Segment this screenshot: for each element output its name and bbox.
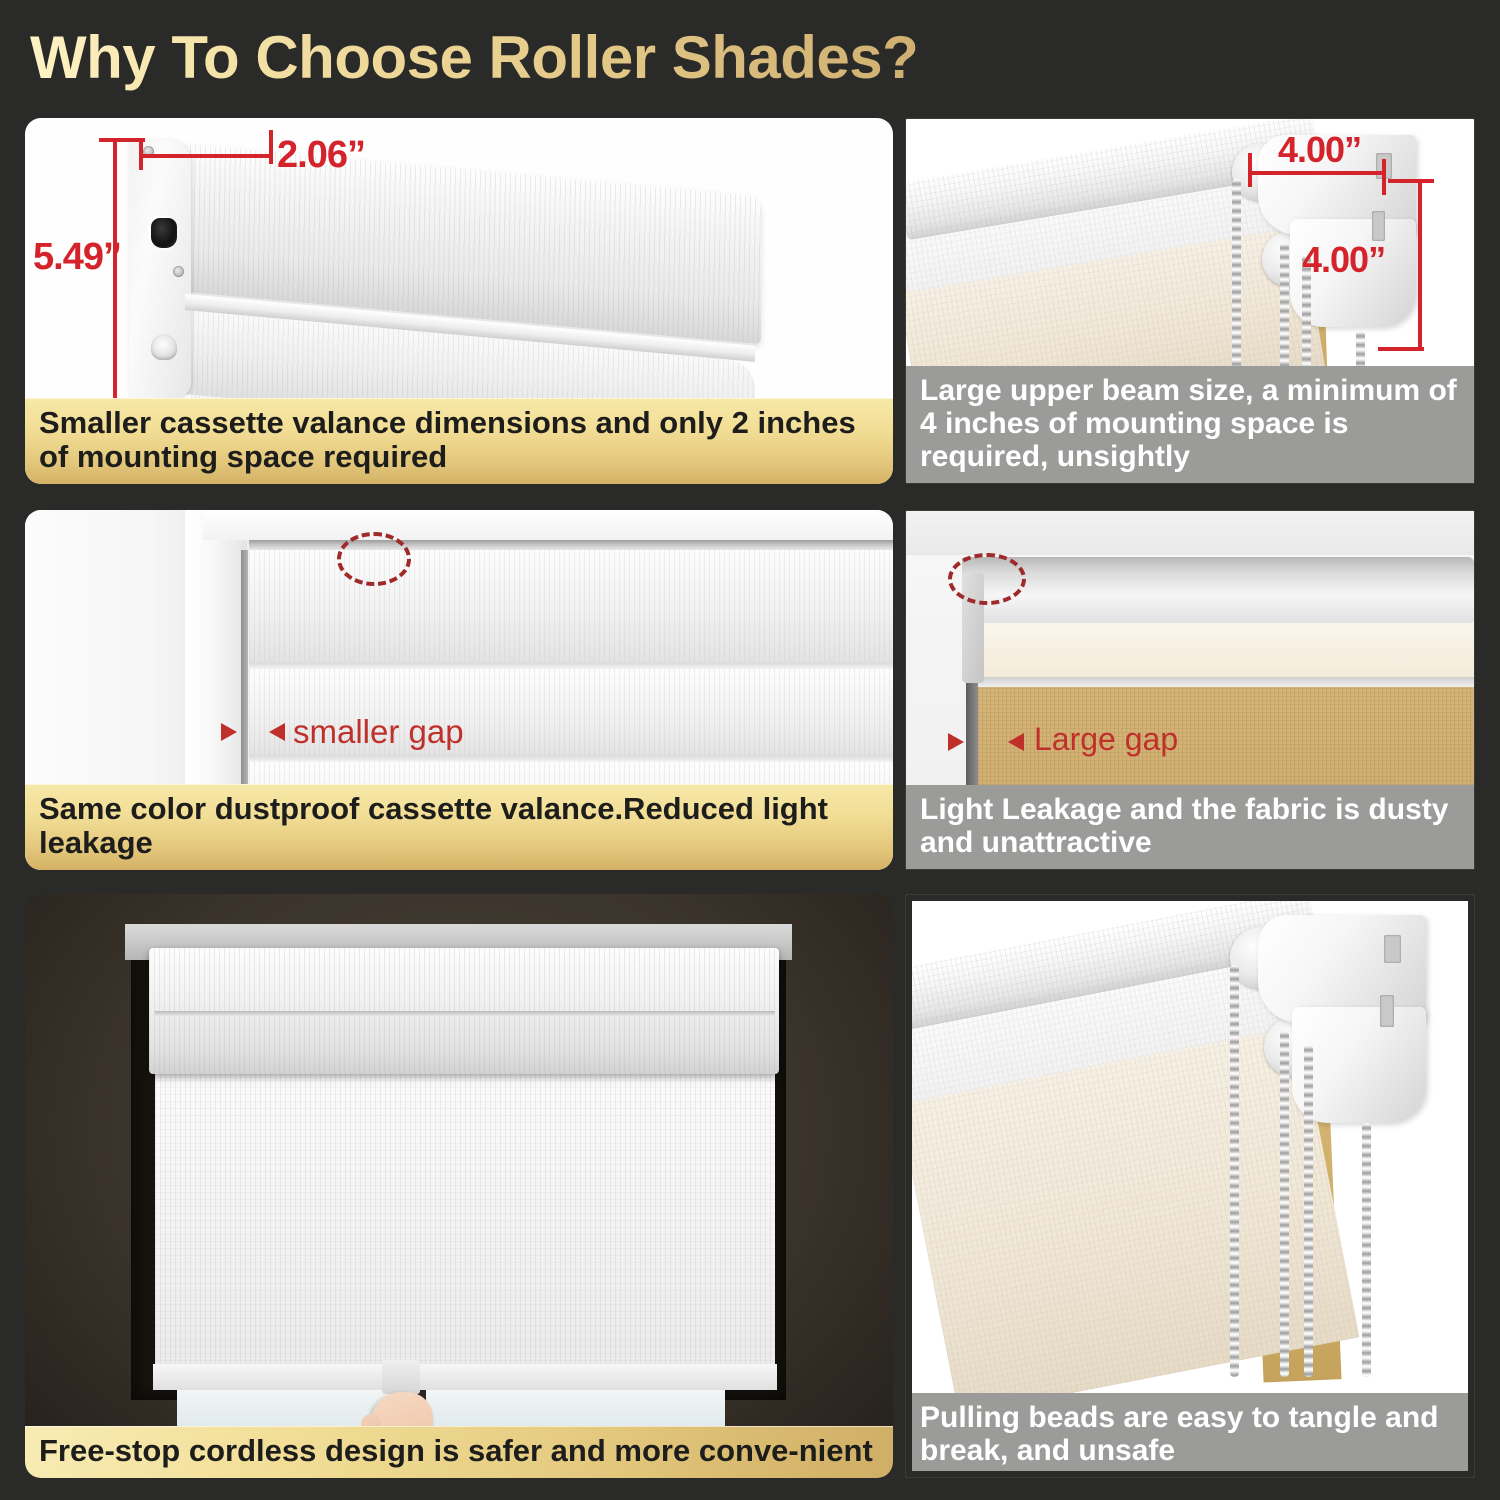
- gap-arrow-right: [269, 723, 285, 741]
- page-title: Why To Choose Roller Shades?: [30, 22, 1030, 94]
- screw-icon: [173, 266, 184, 277]
- panel-large-upper-beam: 4.00” 4.00” Large upper beam size, a min…: [905, 118, 1475, 484]
- beam-height-dimension-line: [1418, 181, 1422, 351]
- pull-grip: [382, 1360, 420, 1394]
- bead-chain: [1280, 1031, 1289, 1377]
- panel-pulling-beads: Pulling beads are easy to tangle and bre…: [905, 894, 1475, 1478]
- trim-strip: [968, 677, 1474, 687]
- panel-4-caption: Light Leakage and the fabric is dusty an…: [906, 785, 1474, 869]
- gap-arrow-left: [221, 723, 237, 741]
- panel-5-caption: Free-stop cordless design is safer and m…: [25, 1426, 893, 1478]
- cream-fabric: [968, 623, 1474, 679]
- height-dimension-label: 5.49”: [33, 236, 121, 279]
- ceiling-strip: [906, 511, 1474, 555]
- shade-separator: [249, 662, 893, 669]
- panel-5-photo: [25, 894, 893, 1478]
- bracket-slot: [1384, 935, 1401, 963]
- large-gap-label: Large gap: [1034, 721, 1178, 758]
- panel-6-caption: Pulling beads are easy to tangle and bre…: [906, 1393, 1474, 1477]
- valance-seam: [155, 1011, 775, 1016]
- bracket-slot: [1372, 211, 1385, 241]
- beam-height-tick-top: [1388, 179, 1434, 183]
- panel-2-caption: Large upper beam size, a minimum of 4 in…: [906, 366, 1474, 483]
- panel-cordless-design: Free-stop cordless design is safer and m…: [25, 894, 893, 1478]
- shade-separator: [249, 755, 893, 762]
- hem-bar: [153, 1364, 777, 1390]
- beam-width-dimension-line: [1250, 171, 1386, 175]
- gap-arrow-left: [948, 733, 964, 751]
- width-dimension-line: [141, 154, 273, 158]
- beam-width-tick-right: [1382, 159, 1386, 195]
- highlight-circle-icon: [337, 532, 411, 586]
- sky: [177, 1390, 725, 1430]
- panel-3-caption: Same color dustproof cassette valance.Re…: [25, 784, 893, 870]
- panel-light-leakage: Large gap Light Leakage and the fabric i…: [905, 510, 1475, 870]
- window-head: [203, 510, 893, 540]
- panel-smaller-cassette: 2.06” 5.49” Smaller cassette valance dim…: [25, 118, 893, 484]
- width-tick-left: [139, 138, 143, 170]
- beam-height-tick-bottom: [1378, 347, 1424, 351]
- bead-chain: [1362, 1123, 1371, 1377]
- roller-shade-fabric: [155, 1072, 775, 1382]
- gap-arrow-right: [1008, 733, 1024, 751]
- panel-dustproof-valance: smaller gap Same color dustproof cassett…: [25, 510, 893, 870]
- roller-tube: [962, 557, 1474, 623]
- width-dimension-label: 2.06”: [277, 134, 365, 177]
- beam-width-label: 4.00”: [1278, 129, 1361, 171]
- panel-6-photo: [906, 895, 1474, 1477]
- beam-width-tick-left: [1248, 153, 1252, 187]
- bracket-slot: [1380, 995, 1394, 1027]
- height-tick-top: [99, 138, 145, 142]
- panel-1-caption: Smaller cassette valance dimensions and …: [25, 398, 893, 484]
- width-tick-right: [269, 130, 273, 164]
- highlight-circle-icon: [948, 553, 1026, 605]
- beam-height-label: 4.00”: [1302, 239, 1385, 281]
- bead-chain: [1304, 1045, 1313, 1377]
- bead-chain: [1230, 965, 1239, 1377]
- smaller-gap-label: smaller gap: [293, 713, 464, 751]
